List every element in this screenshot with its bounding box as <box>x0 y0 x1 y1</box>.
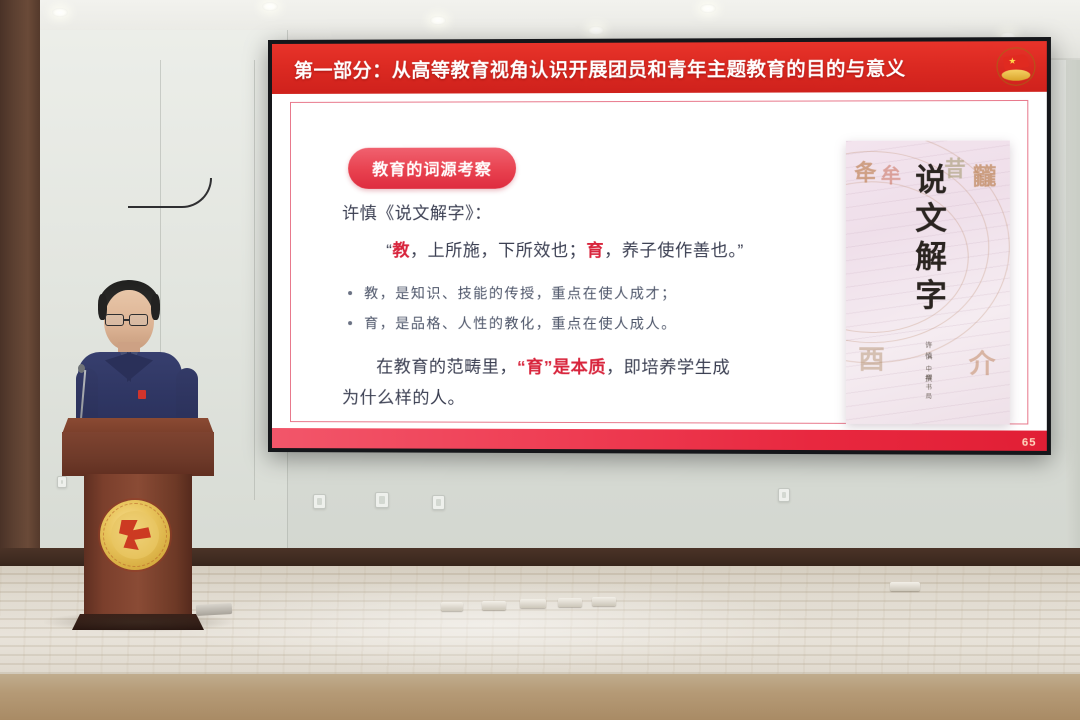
wall-outlet-plate <box>375 492 389 508</box>
ceiling-downlight <box>700 4 716 13</box>
oracle-script-glyph: 牟 <box>881 159 901 188</box>
oracle-script-glyph: 酉 <box>858 339 885 376</box>
glasses-bridge <box>124 319 129 321</box>
book-cover-image: 夅 牟 昔 龖 酉 介 说文解字 许慎 撰 中华书局 <box>846 141 1010 425</box>
classic-quote: “教，上所施，下所效也；育，养子使作善也。” <box>386 236 831 261</box>
floor-outlet-cover <box>558 598 582 607</box>
oracle-script-glyph: 夅 <box>854 155 876 187</box>
floor-outlet-cover <box>441 602 463 611</box>
podium <box>62 418 214 630</box>
list-item: 教，是知识、技能的传授，重点在使人成才； <box>348 283 832 304</box>
glasses-icon <box>105 314 124 326</box>
podium-front-panel <box>62 432 214 476</box>
slide-title-bar: 第一部分：从高等教育视角认识开展团员和青年主题教育的目的与意义 <box>272 41 1047 94</box>
oracle-script-glyph: 龖 <box>973 157 997 191</box>
ceiling-downlight <box>52 8 68 17</box>
ceiling-downlight <box>262 2 278 11</box>
oracle-script-glyph: 介 <box>969 343 996 381</box>
slide-body: 许慎《说文解字》： “教，上所施，下所效也；育，养子使作善也。” 教，是知识、技… <box>342 199 832 416</box>
bullet-dot-icon <box>348 291 352 295</box>
projection-screen[interactable]: 第一部分：从高等教育视角认识开展团员和青年主题教育的目的与意义 教育的词源考察 … <box>268 37 1051 455</box>
wall-outlet-plate <box>432 495 445 510</box>
wall-seam <box>254 60 255 500</box>
floor-front-strip <box>0 674 1080 720</box>
quote-emphasis-yu: 育 <box>586 241 604 260</box>
conclusion-paragraph: 在教育的范畴里，“育”是本质，即培养学生成为什么样的人。 <box>342 351 832 415</box>
communist-youth-league-emblem-icon <box>997 48 1034 85</box>
podium-shadow <box>44 612 234 632</box>
wall-edge-right <box>1066 60 1080 560</box>
slide-page-number: 65 <box>1022 437 1037 449</box>
crest-mark <box>119 520 151 550</box>
crest-core <box>111 511 159 559</box>
floor-outlet-cover <box>890 582 920 591</box>
floor-outlet-cover <box>592 597 616 606</box>
wood-column-left <box>0 0 40 560</box>
conclusion-line2: 为什么样的人。 <box>342 389 465 408</box>
list-item: 育，是品格、人性的教化，重点在使人成人。 <box>348 313 832 334</box>
wall-outlet-plate <box>778 488 790 502</box>
slide-title-text: 第一部分：从高等教育视角认识开展团员和青年主题教育的目的与意义 <box>294 53 906 82</box>
hair-side <box>151 294 160 320</box>
ceiling-downlight <box>588 26 604 35</box>
presentation-slide: 第一部分：从高等教育视角认识开展团员和青年主题教育的目的与意义 教育的词源考察 … <box>272 41 1047 451</box>
quote-part1: ，上所施，下所效也； <box>410 241 586 260</box>
slide-footer-bar: 65 <box>272 428 1047 451</box>
book-publisher-text: 中华书局 <box>923 365 932 401</box>
floor-outlet-cover <box>520 599 546 608</box>
bullet-text: 教，是知识、技能的传授，重点在使人成才； <box>364 283 677 303</box>
quote-emphasis-jiao: 教 <box>392 241 410 260</box>
quote-part2: ，养子使作善也。 <box>604 241 737 260</box>
glasses-icon <box>129 314 148 326</box>
conclusion-before: 在教育的范畴里， <box>376 357 517 376</box>
bullet-list: 教，是知识、技能的传授，重点在使人成才； 育，是品格、人性的教化，重点在使人成人… <box>348 283 832 334</box>
conclusion-emphasis: “育”是本质 <box>517 358 606 377</box>
wall-switch-plate <box>313 494 326 509</box>
quote-source: 许慎《说文解字》： <box>342 199 832 224</box>
lecture-room: 第一部分：从高等教育视角认识开展团员和青年主题教育的目的与意义 教育的词源考察 … <box>0 0 1080 720</box>
floor-outlet-cover <box>482 601 506 610</box>
conclusion-after: ，即培养学生成 <box>606 358 730 377</box>
ceiling-downlight <box>430 16 446 25</box>
oracle-script-glyph: 昔 <box>944 153 966 183</box>
bullet-text: 育，是品格、人性的教化，重点在使人成人。 <box>364 313 677 334</box>
quote-close: ” <box>738 241 744 260</box>
university-crest-icon <box>100 500 170 570</box>
bullet-dot-icon <box>348 321 352 325</box>
section-badge: 教育的词源考察 <box>348 148 516 189</box>
lapel-badge <box>138 390 146 399</box>
book-title-text: 说文解字 <box>912 163 944 317</box>
